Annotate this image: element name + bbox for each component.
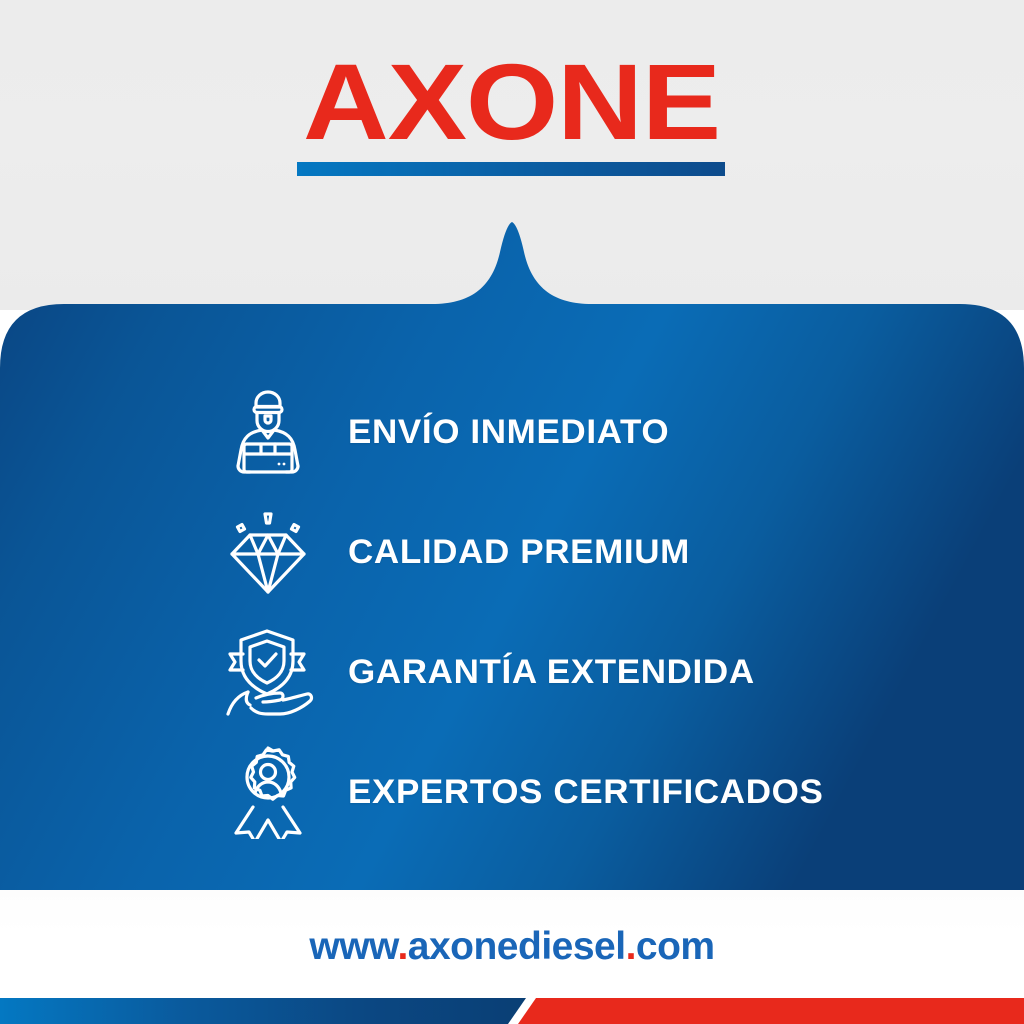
feature-label: EXPERTOS CERTIFICADOS: [348, 773, 823, 812]
diamond-gem-icon: [218, 507, 318, 597]
url-part-domain: axonediesel: [408, 925, 626, 968]
brand-logo: AXONE: [0, 48, 1024, 156]
website-url[interactable]: www.axonediesel.com: [0, 925, 1024, 969]
delivery-person-box-icon: [218, 387, 318, 477]
url-dot-1: .: [397, 925, 407, 968]
stripe-blue-segment: [0, 998, 526, 1024]
bottom-accent-stripe: [0, 984, 1024, 1024]
shield-check-hand-icon: [218, 626, 318, 718]
poster-canvas: AXONE: [0, 0, 1024, 1024]
url-dot-2: .: [626, 925, 636, 968]
feature-row[interactable]: ENVÍO INMEDIATO: [0, 372, 1024, 492]
feature-row[interactable]: GARANTÍA EXTENDIDA: [0, 612, 1024, 732]
feature-label: ENVÍO INMEDIATO: [348, 413, 669, 452]
url-part-tld: com: [636, 925, 715, 968]
logo-wordmark: AXONE: [303, 48, 720, 156]
logo-underline-bar: [297, 162, 725, 176]
award-badge-person-icon: [218, 745, 318, 839]
stripe-red-segment: [518, 998, 1024, 1024]
feature-row[interactable]: CALIDAD PREMIUM: [0, 492, 1024, 612]
feature-label: CALIDAD PREMIUM: [348, 533, 690, 572]
url-part-www: www: [309, 925, 397, 968]
feature-list: ENVÍO INMEDIATO CALIDAD P: [0, 372, 1024, 852]
feature-row[interactable]: EXPERTOS CERTIFICADOS: [0, 732, 1024, 852]
feature-label: GARANTÍA EXTENDIDA: [348, 653, 755, 692]
